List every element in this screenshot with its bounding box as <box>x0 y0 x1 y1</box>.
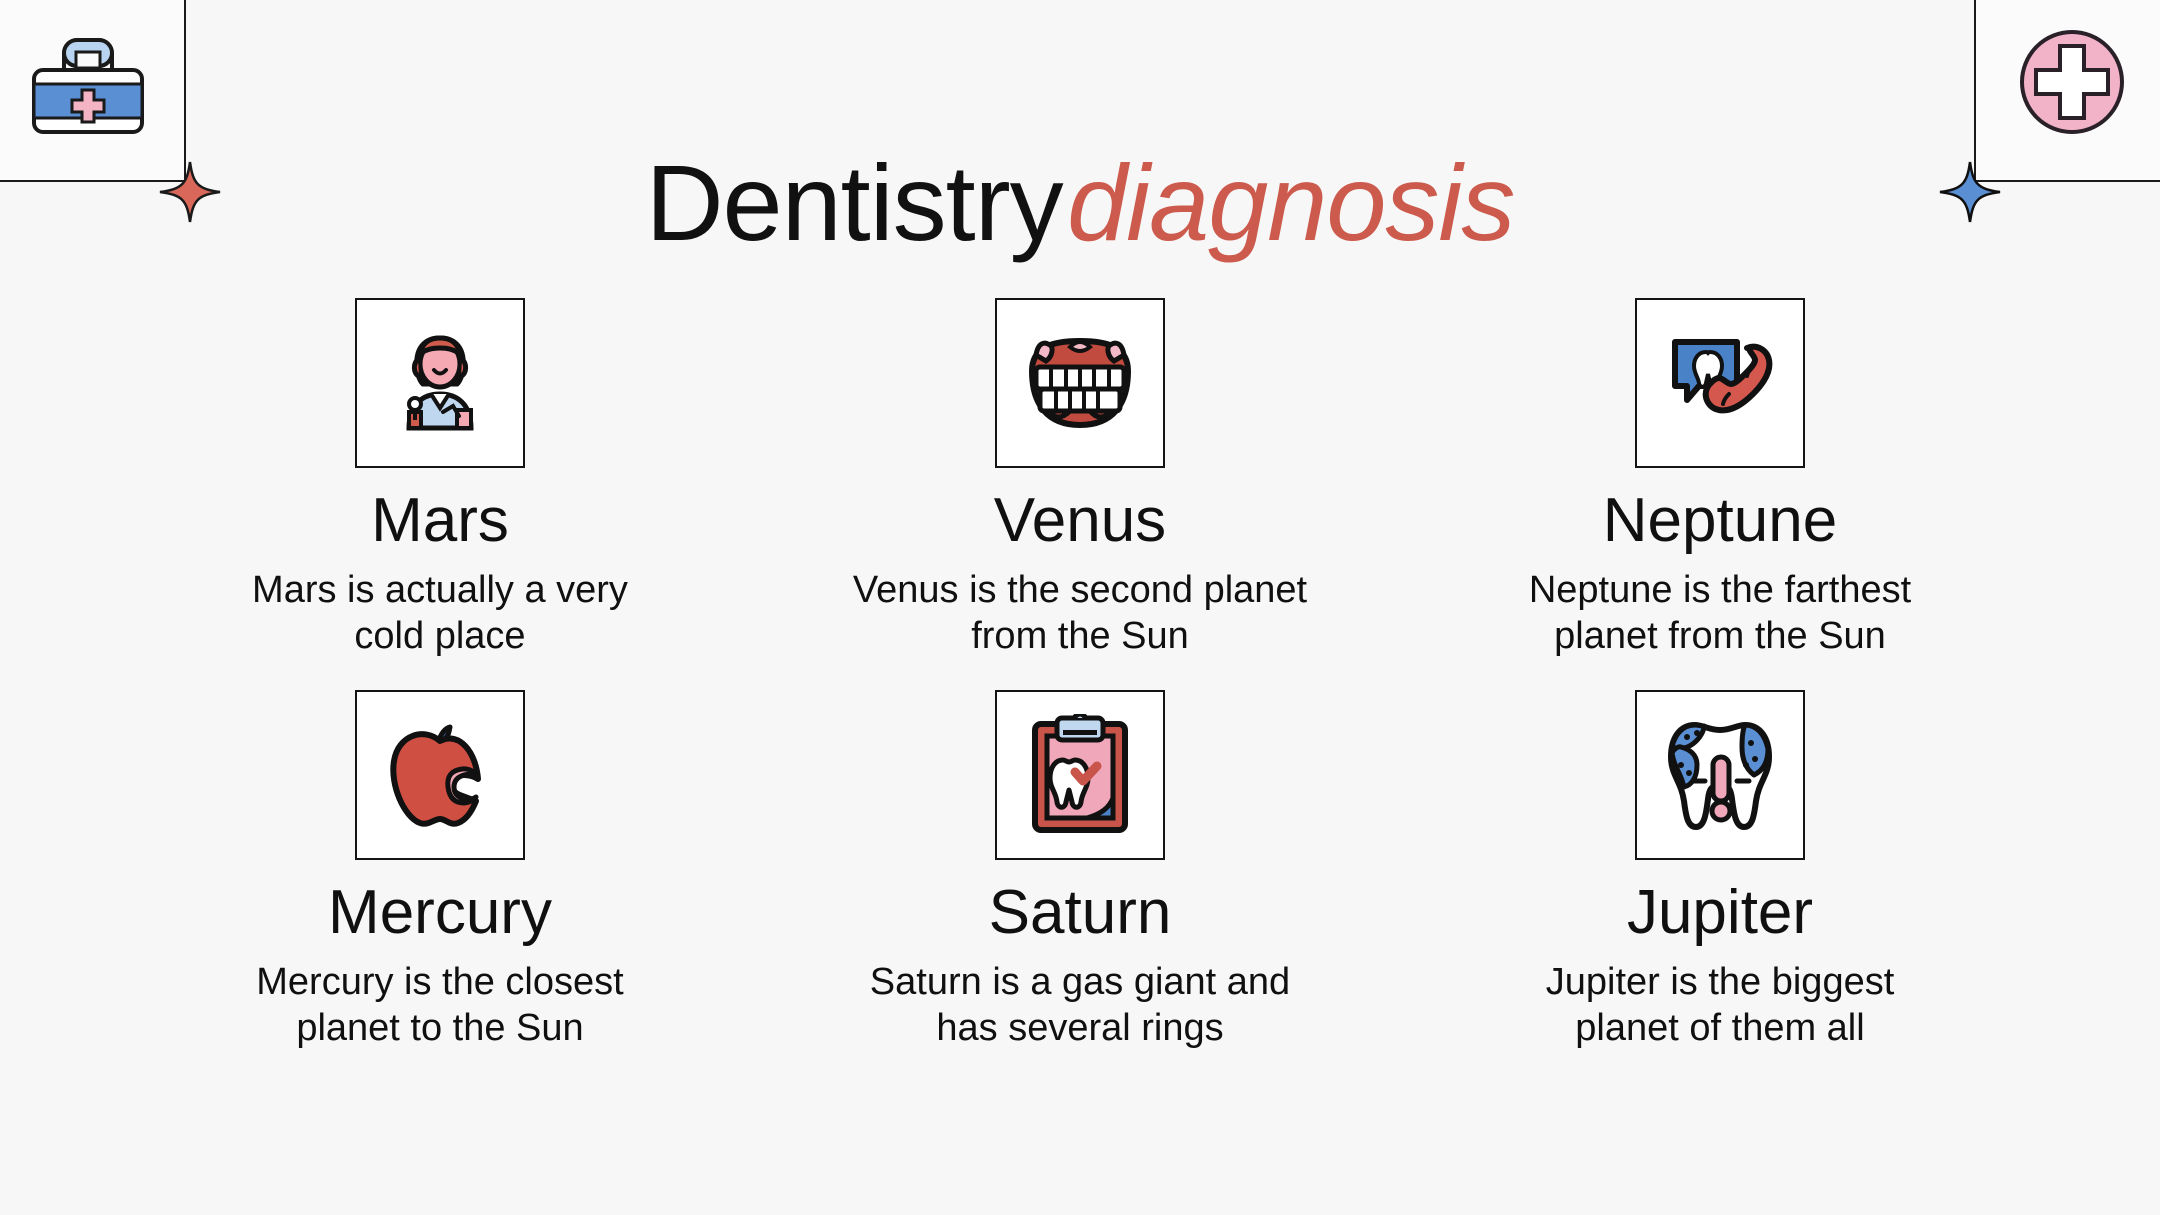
items-grid: Mars Mars is actually a very cold place <box>120 298 2040 1052</box>
item-title: Mercury <box>328 880 552 945</box>
grid-item-mars: Mars Mars is actually a very cold place <box>120 298 760 660</box>
item-description: Venus is the second planet from the Sun <box>853 567 1307 660</box>
decayed-tooth-alert-icon <box>1661 713 1779 837</box>
slide-canvas: Dentistry diagnosis <box>0 0 2160 1215</box>
dentures-teeth-icon <box>1018 331 1142 435</box>
item-title: Mars <box>371 488 509 553</box>
dentist-person-icon <box>381 324 499 442</box>
grid-item-jupiter: Jupiter Jupiter is the biggest planet of… <box>1400 690 2040 1052</box>
grid-item-mercury: Mercury Mercury is the closest planet to… <box>120 690 760 1052</box>
item-description: Neptune is the farthest planet from the … <box>1529 567 1911 660</box>
grid-item-neptune: Neptune Neptune is the farthest planet f… <box>1400 298 2040 660</box>
bitten-apple-icon <box>380 719 500 831</box>
slide-title: Dentistry diagnosis <box>0 140 2160 265</box>
item-description: Mercury is the closest planet to the Sun <box>256 959 623 1052</box>
dental-call-icon <box>1661 324 1779 442</box>
icon-box-venus <box>995 298 1165 468</box>
icon-box-mercury <box>355 690 525 860</box>
medical-cross-circle-icon <box>2008 18 2136 151</box>
grid-item-venus: Venus Venus is the second planet from th… <box>760 298 1400 660</box>
item-title: Neptune <box>1603 488 1837 553</box>
item-title: Saturn <box>989 880 1172 945</box>
icon-box-saturn <box>995 690 1165 860</box>
item-description: Mars is actually a very cold place <box>252 567 628 660</box>
title-accent-text: diagnosis <box>1067 142 1514 263</box>
item-title: Jupiter <box>1627 880 1813 945</box>
grid-item-saturn: Saturn Saturn is a gas giant and has sev… <box>760 690 1400 1052</box>
item-description: Saturn is a gas giant and has several ri… <box>870 959 1290 1052</box>
icon-box-jupiter <box>1635 690 1805 860</box>
icon-box-neptune <box>1635 298 1805 468</box>
title-main-text: Dentistry <box>646 142 1063 263</box>
item-title: Venus <box>994 488 1166 553</box>
icon-box-mars <box>355 298 525 468</box>
item-description: Jupiter is the biggest planet of them al… <box>1546 959 1895 1052</box>
medical-bag-icon <box>24 26 152 143</box>
dental-clipboard-checklist-icon <box>1027 714 1133 836</box>
